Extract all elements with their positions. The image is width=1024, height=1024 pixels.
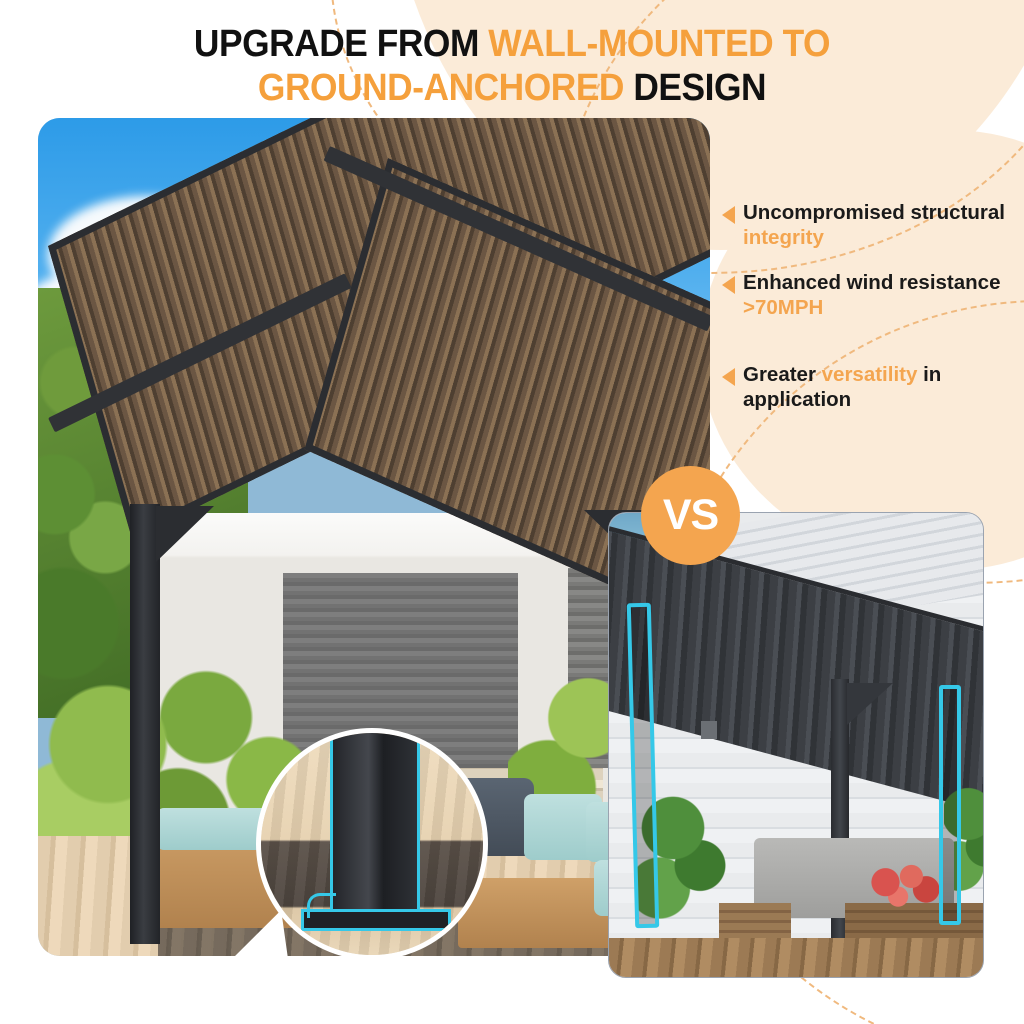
headline-highlight-2: GROUND-ANCHORED <box>258 67 633 109</box>
triangle-left-icon <box>722 276 735 294</box>
headline-plain-1: UPGRADE FROM <box>194 23 488 65</box>
page-title: UPGRADE FROM WALL-MOUNTED TO GROUND-ANCH… <box>36 22 988 110</box>
bullet-plain-3: Greater <box>743 363 822 386</box>
headline-highlight-1: WALL-MOUNTED TO <box>488 23 830 65</box>
headline-line-1: UPGRADE FROM WALL-MOUNTED TO <box>36 22 988 66</box>
anchored-post <box>333 728 417 923</box>
feature-bullet-list: Uncompromised structural integrity Enhan… <box>722 200 1014 432</box>
bullet-highlight-2: >70MPH <box>743 296 823 319</box>
triangle-left-icon <box>722 206 735 224</box>
triangle-left-icon <box>722 368 735 386</box>
bullet-plain-1: Uncompromised structural <box>743 201 1005 224</box>
vs-badge-label: VS <box>663 491 718 540</box>
feature-bullet-versatility: Greater versatility in application <box>722 362 1014 412</box>
pergola-post-left <box>130 504 160 944</box>
feature-bullet-text: Enhanced wind resistance >70MPH <box>743 270 1014 320</box>
feature-bullet-integrity: Uncompromised structural integrity <box>722 200 1014 250</box>
headline-plain-2: DESIGN <box>633 67 766 109</box>
product-infographic: UPGRADE FROM WALL-MOUNTED TO GROUND-ANCH… <box>0 0 1024 1024</box>
bullet-plain-2: Enhanced wind resistance <box>743 271 1000 294</box>
vs-badge: VS <box>641 466 740 565</box>
feature-bullet-text: Uncompromised structural integrity <box>743 200 1014 250</box>
headline-line-2: GROUND-ANCHORED DESIGN <box>36 66 988 110</box>
wall-lamp <box>701 721 717 739</box>
wood-deck <box>609 938 984 978</box>
bullet-highlight-1: integrity <box>743 226 824 249</box>
feature-bullet-wind: Enhanced wind resistance >70MPH <box>722 270 1014 320</box>
post-anchor-detail-callout <box>256 728 488 960</box>
feature-bullet-text: Greater versatility in application <box>743 362 1014 412</box>
post-base-notch-highlight <box>307 893 336 918</box>
bullet-highlight-3: versatility <box>822 363 918 386</box>
flower-arrangement <box>867 863 941 911</box>
wall-mount-highlight-right <box>939 685 961 925</box>
wall-mounted-comparison-photo <box>608 512 984 978</box>
